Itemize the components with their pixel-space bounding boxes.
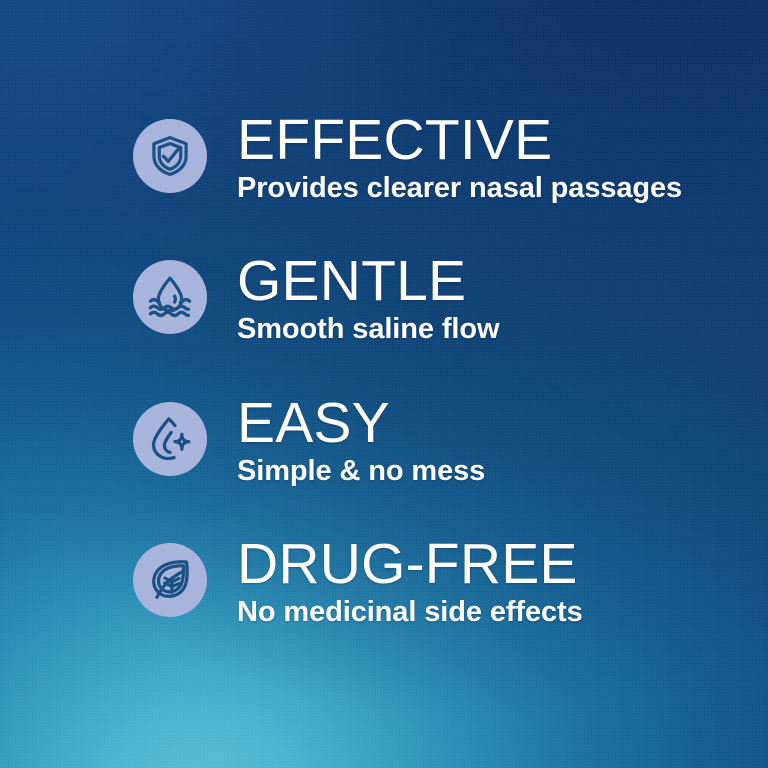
feature-text-easy: EASY Simple & no mess [237,393,485,488]
feature-text-gentle: GENTLE Smooth saline flow [237,251,499,346]
feature-subtitle: Simple & no mess [237,454,485,488]
droplet-sparkle-icon-badge [133,402,207,476]
leaf-icon [147,557,193,603]
feature-subtitle: Provides clearer nasal passages [237,171,682,205]
feature-text-drug-free: DRUG-FREE No medicinal side effects [237,534,583,629]
feature-subtitle: Smooth saline flow [237,312,499,346]
water-droplet-waves-icon [147,274,193,320]
feature-list: EFFECTIVE Provides clearer nasal passage… [0,0,768,768]
feature-title: EASY [237,393,485,453]
benefits-poster: EFFECTIVE Provides clearer nasal passage… [0,0,768,768]
feature-item-easy: EASY Simple & no mess [133,401,485,488]
shield-check-icon [147,133,193,179]
feature-title: EFFECTIVE [237,110,682,170]
feature-item-gentle: GENTLE Smooth saline flow [133,259,499,346]
feature-subtitle: No medicinal side effects [237,595,583,629]
feature-item-effective: EFFECTIVE Provides clearer nasal passage… [133,118,682,205]
feature-item-drug-free: DRUG-FREE No medicinal side effects [133,542,583,629]
leaf-icon-badge [133,543,207,617]
feature-text-effective: EFFECTIVE Provides clearer nasal passage… [237,110,682,205]
feature-title: GENTLE [237,251,499,311]
droplet-sparkle-icon [147,416,193,462]
feature-title: DRUG-FREE [237,534,583,594]
shield-check-icon-badge [133,119,207,193]
water-droplet-waves-icon-badge [133,260,207,334]
